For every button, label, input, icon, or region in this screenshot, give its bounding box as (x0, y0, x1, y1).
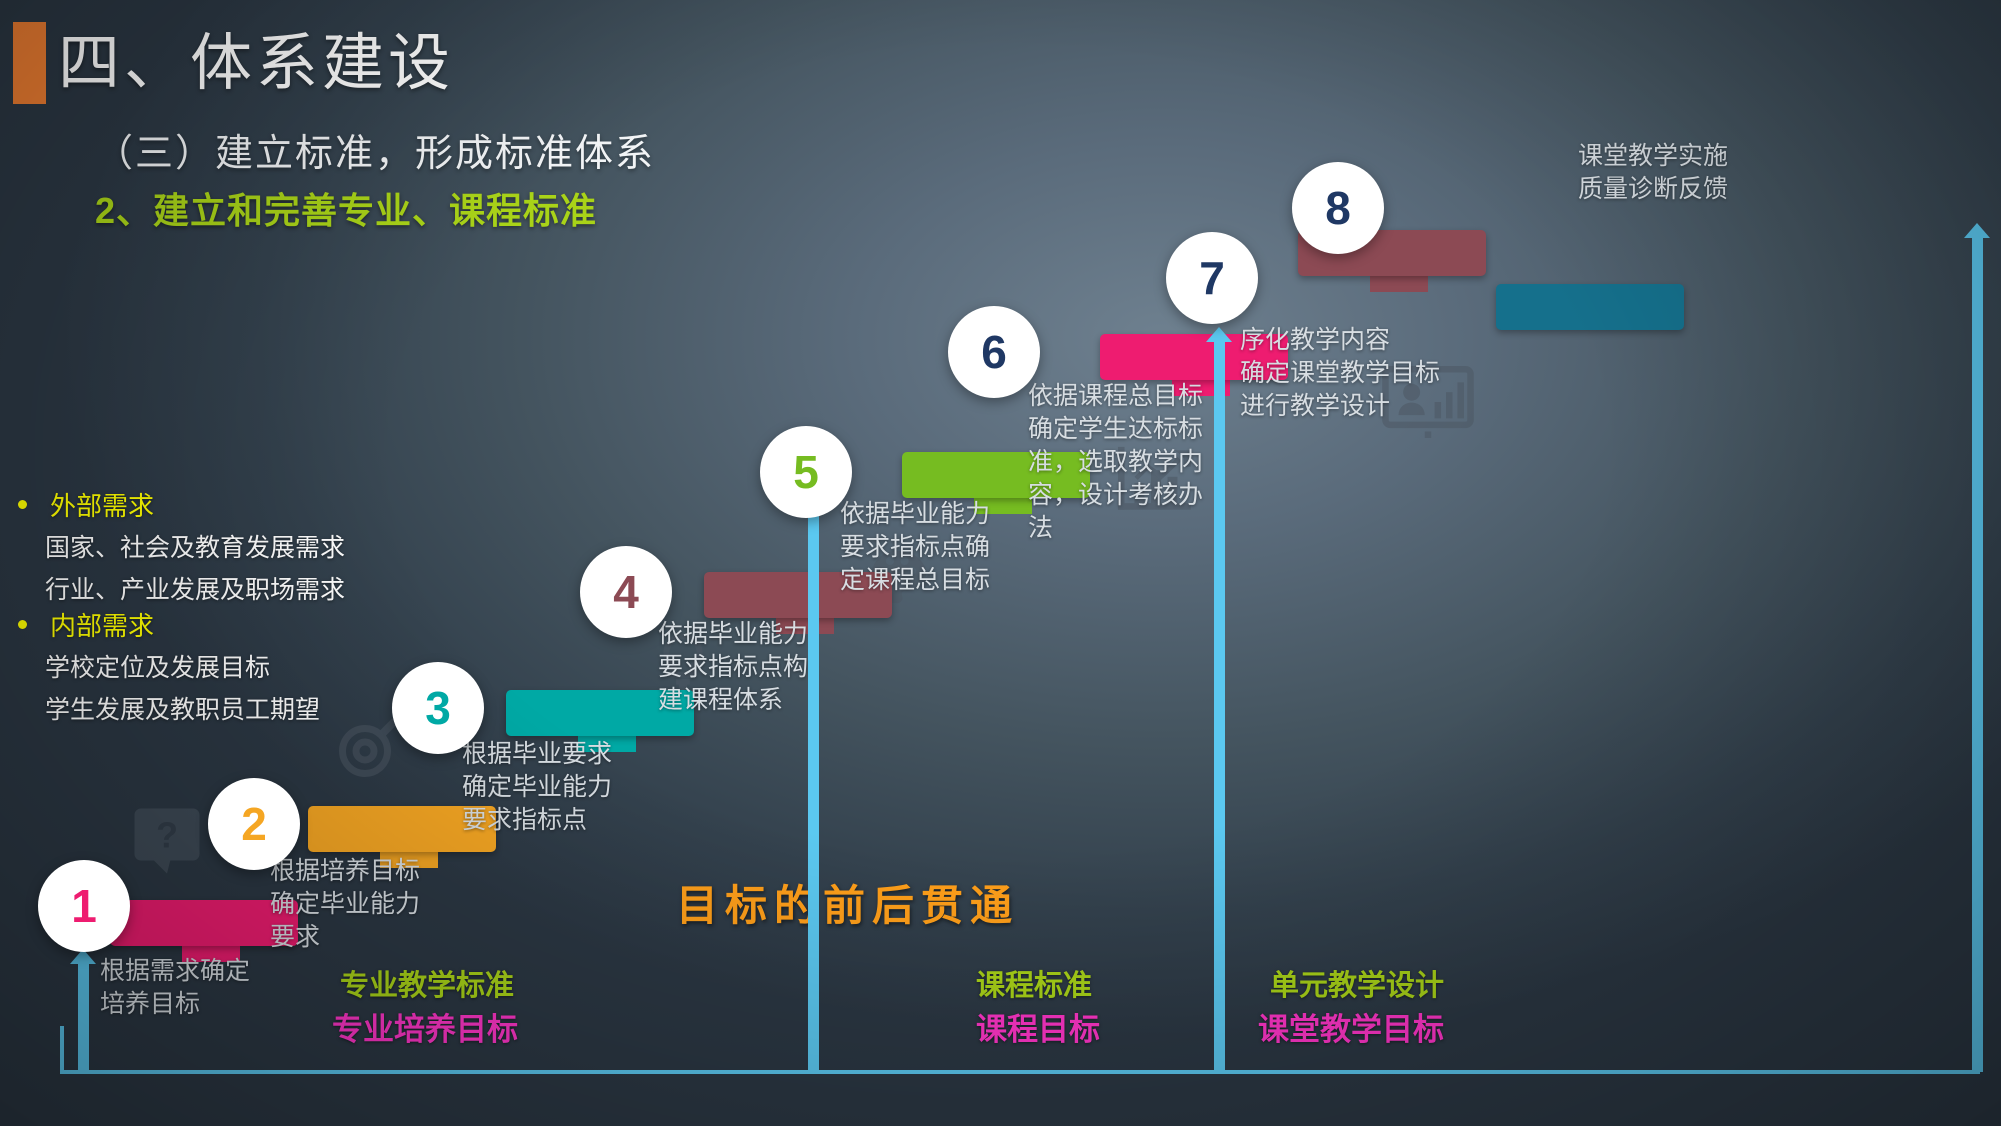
bullet-head-external: 外部需求 (50, 486, 154, 523)
step-text-2: 根据培养目标 确定毕业能力 要求 (270, 855, 420, 954)
step-text-4: 依据毕业能力 要求指标点构 建课程体系 (658, 618, 808, 717)
step-circle-7[interactable]: 7 (1166, 232, 1258, 324)
step-text-8: 课堂教学实施 质量诊断反馈 (1578, 140, 1728, 206)
step-number-8: 8 (1325, 181, 1351, 235)
step-circle-5[interactable]: 5 (760, 426, 852, 518)
step-circle-6[interactable]: 6 (948, 306, 1040, 398)
step-circle-2[interactable]: 2 (208, 778, 300, 870)
baseline-tick-mid-2 (1214, 1026, 1218, 1072)
section-standard-2: 课程标准 (976, 962, 1092, 1004)
bullet-dot-internal (18, 620, 27, 629)
section-goal-2: 课程目标 (976, 1004, 1100, 1049)
step-text-7: 序化教学内容 确定课堂教学目标 进行教学设计 (1240, 324, 1440, 423)
baseline-tick-right (1976, 1026, 1980, 1072)
baseline-rule (60, 1070, 1980, 1074)
bullet-dot-external (18, 500, 27, 509)
step-text-5: 依据毕业能力 要求指标点确 定课程总目标 (840, 498, 990, 597)
step-text-6: 依据课程总目标 确定学生达标标 准，选取教学内 容，设计考核办 法 (1028, 380, 1203, 545)
page-subtitle: （三）建立标准，形成标准体系 (95, 122, 655, 177)
bullet-head-internal: 内部需求 (50, 606, 154, 643)
step-circle-4[interactable]: 4 (580, 546, 672, 638)
step-text-3: 根据毕业要求 确定毕业能力 要求指标点 (462, 738, 612, 837)
step-number-3: 3 (425, 681, 451, 735)
target-icon (332, 712, 404, 784)
page-subtitle-2: 2、建立和完善专业、课程标准 (95, 182, 597, 234)
center-note: 目标的前后贯通 (676, 872, 1019, 933)
flow-arrow-8 (1972, 236, 1983, 1072)
section-goal-1: 专业培养目标 (332, 1004, 518, 1049)
step-number-6: 6 (981, 325, 1007, 379)
speech-question-icon: ? (128, 802, 206, 880)
section-standard-1: 专业教学标准 (340, 962, 514, 1004)
baseline-tick-mid-1 (808, 1026, 812, 1072)
step-circle-3[interactable]: 3 (392, 662, 484, 754)
step-text-1: 根据需求确定 培养目标 (100, 955, 250, 1021)
step-circle-8[interactable]: 8 (1292, 162, 1384, 254)
flow-arrow-1 (78, 962, 89, 1072)
baseline-tick-left (60, 1026, 64, 1072)
slide-canvas: 四、体系建设 （三）建立标准，形成标准体系 2、建立和完善专业、课程标准 ? 外… (0, 0, 2001, 1126)
title-accent-bar (13, 22, 46, 104)
bullet-line-external-2: 行业、产业发展及职场需求 (45, 570, 345, 606)
step-circle-1[interactable]: 1 (38, 860, 130, 952)
bullet-line-internal-2: 学生发展及教职员工期望 (45, 690, 320, 726)
step-bar-8 (1496, 284, 1684, 330)
step-number-1: 1 (71, 879, 97, 933)
step-number-5: 5 (793, 445, 819, 499)
page-title: 四、体系建设 (58, 12, 454, 102)
bullet-line-external-1: 国家、社会及教育发展需求 (45, 528, 345, 564)
section-standard-3: 单元教学设计 (1270, 962, 1444, 1004)
step-number-4: 4 (613, 565, 639, 619)
flow-arrow-7 (1214, 340, 1225, 1072)
step-number-7: 7 (1199, 251, 1225, 305)
svg-text:?: ? (156, 816, 178, 856)
bullet-line-internal-1: 学校定位及发展目标 (45, 648, 270, 684)
step-number-2: 2 (241, 797, 267, 851)
section-goal-3: 课堂教学目标 (1258, 1004, 1444, 1049)
flow-arrow-5 (808, 470, 819, 1072)
